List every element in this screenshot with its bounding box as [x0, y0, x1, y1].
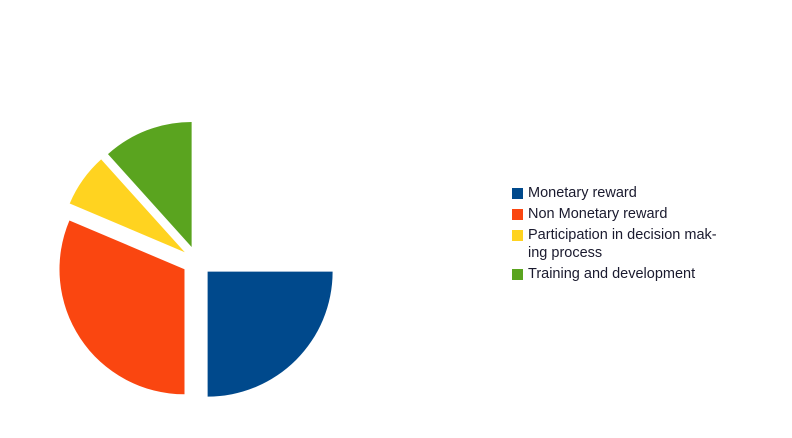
chart-plot-area: [0, 0, 500, 438]
legend-swatch-icon-series-3: [512, 230, 523, 241]
legend-label-series-1: Monetary reward: [528, 184, 637, 202]
legend-swatch-icon-series-1: [512, 188, 523, 199]
pie-slice-1[interactable]: [208, 272, 333, 397]
legend-label-series-2: Non Monetary reward: [528, 205, 667, 223]
chart-legend: Monetary reward Non Monetary reward Part…: [512, 184, 782, 286]
pie-chart-svg: [0, 0, 500, 438]
legend-item-monetary-reward[interactable]: Monetary reward: [512, 184, 782, 202]
legend-item-non-monetary-reward[interactable]: Non Monetary reward: [512, 205, 782, 223]
pie-slice-2[interactable]: [59, 220, 184, 394]
legend-item-participation-in-decision-making-process[interactable]: Participation in decision mak- ing proce…: [512, 226, 782, 262]
legend-label-series-3: Participation in decision mak- ing proce…: [528, 226, 717, 262]
legend-label-series-4: Training and development: [528, 265, 695, 283]
pie-chart-screenshot: Monetary reward Non Monetary reward Part…: [0, 0, 792, 438]
legend-swatch-icon-series-4: [512, 269, 523, 280]
pie-slices-group: [59, 122, 332, 397]
legend-swatch-icon-series-2: [512, 209, 523, 220]
legend-item-training-and-development[interactable]: Training and development: [512, 265, 782, 283]
